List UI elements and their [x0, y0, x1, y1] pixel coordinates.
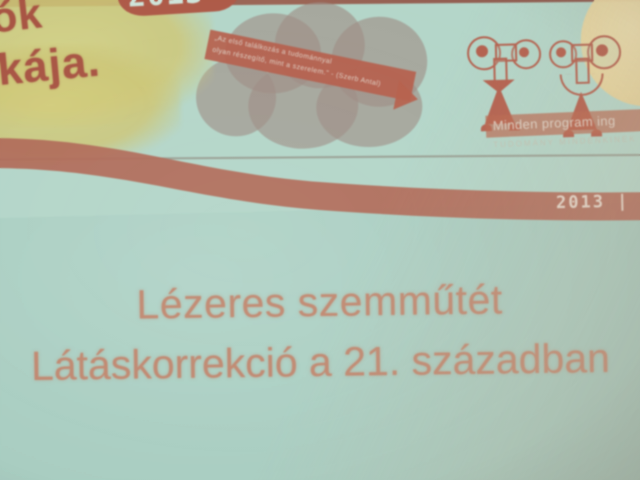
- slide-title-line1: Lézeres szemműtét: [0, 268, 640, 337]
- date-chip: 2013 | 09: [556, 191, 640, 213]
- presentation-slide: atók zakája. 2013 „Az első találkozás a …: [0, 0, 640, 480]
- projected-slide-photo: atók zakája. 2013 „Az első találkozás a …: [0, 0, 640, 480]
- year-badge-label: 2013: [127, 0, 205, 15]
- slide-title-block: Lézeres szemműtét Látáskorrekció a 21. s…: [0, 268, 640, 397]
- header-wave-band: [0, 128, 640, 228]
- slide-title-line2: Látáskorrekció a 21. században: [0, 328, 640, 397]
